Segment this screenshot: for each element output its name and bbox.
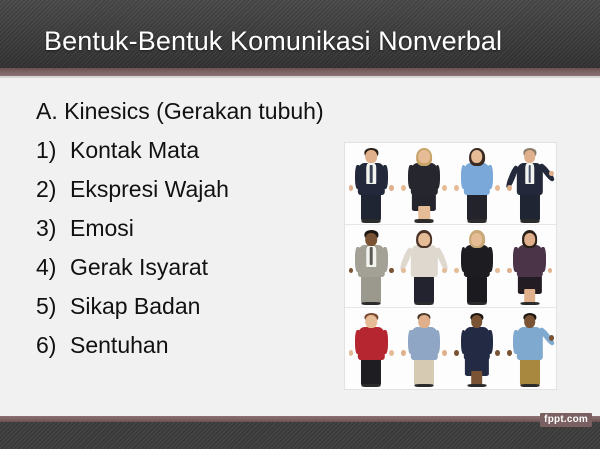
figure-hand-left xyxy=(507,350,512,356)
figure-arm-right xyxy=(487,247,493,271)
woman-cream-jacket-shrug xyxy=(398,225,451,306)
figure-hand-left xyxy=(401,350,406,356)
figure-tie xyxy=(528,165,531,183)
figure-head xyxy=(366,315,378,328)
figure-shoes xyxy=(467,384,486,387)
figure-hand-right xyxy=(495,185,500,191)
figure-tie xyxy=(370,165,373,183)
woman-red-cardigan-hands-front xyxy=(345,308,398,389)
figure-hand-right xyxy=(549,335,554,341)
slide-canvas: Bentuk-Bentuk Komunikasi Nonverbal A. Ki… xyxy=(0,0,600,449)
figure-hand-left xyxy=(454,350,459,356)
figure-legs xyxy=(471,371,483,385)
figure-hand-left xyxy=(507,268,512,274)
figure-hand-right xyxy=(442,268,447,274)
figure-arm-right xyxy=(435,165,441,189)
photo-row-3 xyxy=(345,308,556,389)
figure-arm-right xyxy=(540,247,546,271)
figure-head xyxy=(471,233,483,246)
list-item-marker: 4) xyxy=(36,256,70,279)
figure-hand-left xyxy=(349,268,354,274)
figure-hand-right xyxy=(389,185,394,191)
figure-head xyxy=(418,150,430,163)
figure-hand-left xyxy=(454,268,459,274)
list-item-marker: 3) xyxy=(36,217,70,240)
list-item-marker: 2) xyxy=(36,178,70,201)
woman-plum-suit-arms-down xyxy=(503,225,556,306)
list-item: 5) Sikap Badan xyxy=(36,295,336,318)
header-accent-bar xyxy=(0,68,600,76)
figure-arm-left xyxy=(408,165,414,189)
figure-torso xyxy=(411,327,437,360)
figure-arm-right xyxy=(435,330,441,354)
figure-hand-left xyxy=(349,350,354,356)
figure-arm-left xyxy=(461,330,467,354)
figure-shoes xyxy=(467,302,486,305)
figure-shoes xyxy=(415,384,434,387)
figure-hand-right xyxy=(549,171,554,177)
content-list: A. Kinesics (Gerakan tubuh) 1) Kontak Ma… xyxy=(36,100,336,373)
figure-hand-left xyxy=(401,268,406,274)
figure-hand-right xyxy=(389,350,394,356)
figure-torso xyxy=(464,327,490,360)
man-dark-suit-open-palm xyxy=(503,143,556,224)
man-grey-suit-arms-down xyxy=(345,225,398,306)
figure-shoes xyxy=(362,219,381,222)
figure-arm-left xyxy=(513,330,519,354)
figure-head xyxy=(366,233,378,246)
figure-hand-right xyxy=(442,185,447,191)
woman-navy-dress-arms-crossed xyxy=(451,308,504,389)
figure-legs xyxy=(467,193,487,220)
figure-legs xyxy=(467,276,487,303)
figure-torso xyxy=(516,245,542,278)
list-item-label: Ekspresi Wajah xyxy=(70,178,229,201)
figure-shoes xyxy=(415,302,434,305)
photo-grid xyxy=(344,142,557,390)
figure-hand-left xyxy=(349,185,354,191)
man-blue-shirt-khaki-pants xyxy=(398,308,451,389)
figure-legs xyxy=(361,358,381,385)
page-title: Bentuk-Bentuk Komunikasi Nonverbal xyxy=(44,26,502,57)
figure-arm-right xyxy=(382,165,388,189)
figure-legs xyxy=(414,276,434,303)
list-lead-line: A. Kinesics (Gerakan tubuh) xyxy=(36,100,336,123)
figure-torso xyxy=(411,163,437,196)
figure-head xyxy=(524,315,536,328)
woman-blonde-dark-blazer xyxy=(398,143,451,224)
figure-arm-left xyxy=(513,247,519,271)
figure-hand-right xyxy=(389,268,394,274)
list-item: 4) Gerak Isyarat xyxy=(36,256,336,279)
figure-head xyxy=(366,150,378,163)
figure-legs xyxy=(418,206,430,220)
list-item-marker: 1) xyxy=(36,139,70,162)
figure-shoes xyxy=(362,384,381,387)
woman-black-suit-hand-chest xyxy=(451,225,504,306)
watermark-label: fppt.com xyxy=(540,413,592,427)
figure-arm-right xyxy=(487,165,493,189)
figure-torso xyxy=(464,245,490,278)
figure-arm-right xyxy=(382,330,388,354)
list-item-label: Gerak Isyarat xyxy=(70,256,208,279)
figure-hand-right xyxy=(495,350,500,356)
figure-legs xyxy=(520,358,540,385)
figure-head xyxy=(524,150,536,163)
figure-shoes xyxy=(467,219,486,222)
figure-head xyxy=(418,233,430,246)
list-item-label: Sikap Badan xyxy=(70,295,200,318)
figure-shoes xyxy=(362,302,381,305)
figure-torso xyxy=(464,163,490,196)
list-item-label: Kontak Mata xyxy=(70,139,199,162)
figure-arm-left xyxy=(461,247,467,271)
figure-legs xyxy=(361,193,381,220)
figure-arm-right xyxy=(382,247,388,271)
list-item-marker: 5) xyxy=(36,295,70,318)
list-item-marker: 6) xyxy=(36,334,70,357)
photo-row-1 xyxy=(345,143,556,225)
figure-arm-left xyxy=(408,330,414,354)
woman-blue-shirt-hands-front xyxy=(451,143,504,224)
figure-torso xyxy=(358,327,384,360)
figure-legs xyxy=(520,193,540,220)
list-item-label: Emosi xyxy=(70,217,134,240)
figure-hand-right xyxy=(548,268,553,274)
list-item: 6) Sentuhan xyxy=(36,334,336,357)
figure-head xyxy=(471,150,483,163)
figure-hand-left xyxy=(507,185,512,191)
figure-shoes xyxy=(520,302,539,305)
figure-arm-left xyxy=(355,247,361,271)
photo-row-2 xyxy=(345,225,556,307)
figure-head xyxy=(471,315,483,328)
figure-tie xyxy=(370,247,373,265)
figure-shoes xyxy=(520,384,539,387)
figure-arm-right xyxy=(487,330,493,354)
figure-torso xyxy=(411,245,437,278)
man-dark-suit-hands-clasped xyxy=(345,143,398,224)
figure-hand-right xyxy=(495,268,500,274)
list-item: 2) Ekspresi Wajah xyxy=(36,178,336,201)
figure-head xyxy=(418,315,430,328)
figure-hand-left xyxy=(401,185,406,191)
figure-legs xyxy=(524,289,536,303)
figure-shoes xyxy=(415,219,434,222)
figure-hand-left xyxy=(454,185,459,191)
slide-footer-band xyxy=(0,422,600,449)
figure-head xyxy=(524,233,536,246)
header-accent-highlight xyxy=(0,76,600,78)
figure-shoes xyxy=(520,219,539,222)
figure-legs xyxy=(414,358,434,385)
list-item-label: Sentuhan xyxy=(70,334,168,357)
man-lightblue-shirt-pointing xyxy=(503,308,556,389)
figure-arm-left xyxy=(355,330,361,354)
figure-hand-right xyxy=(442,350,447,356)
figure-torso xyxy=(516,327,542,360)
list-item: 1) Kontak Mata xyxy=(36,139,336,162)
figure-legs xyxy=(361,276,381,303)
list-item: 3) Emosi xyxy=(36,217,336,240)
figure-arm-left xyxy=(355,165,361,189)
